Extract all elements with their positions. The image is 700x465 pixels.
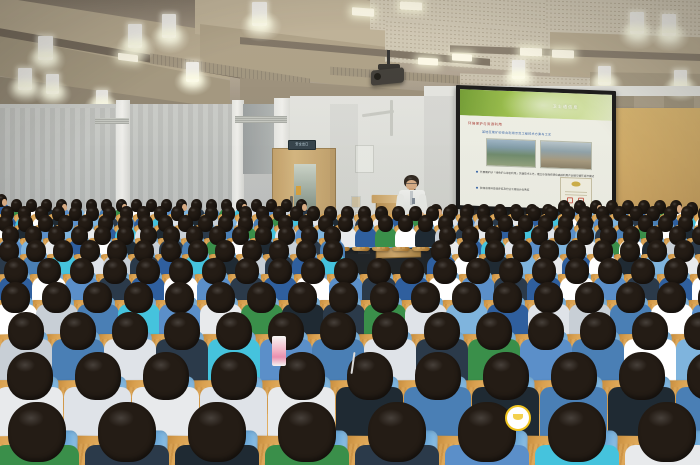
hair-highlight (28, 201, 33, 205)
person-head (320, 312, 356, 350)
person-head (98, 402, 156, 462)
pink-water-bottle (272, 336, 286, 366)
hair-highlight (301, 217, 308, 222)
person-head (188, 240, 208, 262)
hair-highlight (133, 201, 138, 205)
hair-highlight (534, 228, 541, 234)
hair-highlight (165, 243, 174, 250)
wall-vent (95, 118, 129, 124)
person-head (532, 258, 556, 284)
hair-highlight (465, 228, 472, 234)
person-head (493, 282, 522, 313)
hair-highlight (651, 243, 660, 250)
person-head (565, 258, 589, 284)
hair-highlight (305, 261, 316, 269)
hair-highlight (482, 317, 498, 328)
hair-highlight (560, 202, 565, 206)
slide-photo-processing-plant (540, 140, 592, 170)
person-head (235, 258, 259, 284)
hair-highlight (624, 243, 633, 250)
projection-screen-frame: 卫士通信息 环境保护与资源利用 某地区尾矿砂综合利用示范工程技术方案与工艺 开展… (456, 85, 616, 215)
hair-highlight (219, 243, 228, 250)
hair-highlight (193, 201, 198, 205)
person-head (4, 258, 28, 284)
exit-sign-label: 安全出口 (289, 141, 315, 147)
hair-highlight (304, 228, 311, 234)
hair-highlight (649, 208, 655, 213)
hair-highlight (41, 261, 52, 269)
seal-crest-icon (572, 182, 581, 187)
person-head (619, 352, 665, 400)
hair-highlight (539, 286, 552, 295)
hair-highlight (341, 217, 348, 222)
hair-highlight (547, 208, 553, 213)
hair-highlight (223, 201, 228, 205)
hair-highlight (107, 261, 118, 269)
hair-highlight (207, 208, 213, 213)
hair-highlight (462, 208, 468, 213)
light-glow (240, 10, 282, 42)
hair-highlight (627, 358, 647, 372)
person-head (657, 282, 686, 313)
hair-highlight (143, 228, 150, 234)
slide-banner-text: 卫士通信息 (553, 104, 579, 111)
person-head (329, 282, 358, 313)
person-head (466, 258, 490, 284)
hair-highlight (181, 217, 188, 222)
hair-highlight (681, 217, 688, 222)
seal-line (565, 191, 588, 193)
person-head (136, 258, 160, 284)
wall-conduit (390, 100, 393, 136)
hair-highlight (268, 201, 273, 205)
hair-highlight (141, 217, 148, 222)
hair-highlight (598, 208, 604, 213)
person-head (367, 258, 391, 284)
hair-highlight (621, 217, 628, 222)
hair-highlight (272, 261, 283, 269)
hair-highlight (20, 208, 26, 213)
ceiling-recessed-light (352, 7, 374, 17)
hair-highlight (597, 243, 606, 250)
hair-highlight (129, 286, 142, 295)
person-head (575, 282, 604, 313)
person-head (60, 312, 96, 350)
hair-highlight (536, 261, 547, 269)
person-head (211, 352, 257, 400)
hair-highlight (511, 228, 518, 234)
hair-highlight (377, 208, 383, 213)
hair-highlight (378, 409, 404, 427)
hair-highlight (435, 243, 444, 250)
hair-highlight (378, 317, 394, 328)
window-curtain (243, 104, 275, 174)
person-head (37, 258, 61, 284)
hair-highlight (695, 358, 700, 372)
hair-highlight (641, 217, 648, 222)
hair-highlight (273, 243, 282, 250)
hair-highlight (101, 217, 108, 222)
hair-highlight (695, 228, 700, 234)
hair-highlight (288, 409, 314, 427)
hair-highlight (561, 217, 568, 222)
person-head (1, 282, 30, 313)
hair-highlight (503, 261, 514, 269)
hair-highlight (83, 358, 103, 372)
hair-highlight (648, 409, 674, 427)
hair-highlight (375, 286, 388, 295)
person-head (42, 282, 71, 313)
hair-highlight (51, 228, 58, 234)
hair-highlight (161, 217, 168, 222)
hair-highlight (140, 261, 151, 269)
hair-highlight (66, 317, 82, 328)
hair-highlight (430, 317, 446, 328)
hair-highlight (261, 217, 268, 222)
hair-highlight (212, 228, 219, 234)
light-glow (150, 22, 190, 54)
person-head (164, 312, 200, 350)
hair-highlight (371, 261, 382, 269)
hair-highlight (521, 217, 528, 222)
hair-highlight (662, 286, 675, 295)
hair-highlight (222, 317, 238, 328)
hair-highlight (491, 358, 511, 372)
hair-highlight (235, 228, 242, 234)
hair-highlight (258, 228, 265, 234)
hair-highlight (381, 217, 388, 222)
person-head (334, 258, 358, 284)
light-glow (174, 68, 212, 96)
hair-highlight (421, 217, 428, 222)
hair-highlight (15, 358, 35, 372)
seal-line (565, 194, 588, 196)
person-head (647, 240, 667, 262)
hair-highlight (321, 217, 328, 222)
hair-highlight (37, 208, 43, 213)
hair-highlight (394, 208, 400, 213)
slide-subtitle: 某地区尾矿砂综合利用示范工程技术方案与工艺 (482, 130, 551, 137)
hair-highlight (21, 217, 28, 222)
hair-highlight (558, 409, 584, 427)
ceiling-recessed-light (418, 57, 438, 65)
person-head (247, 282, 276, 313)
hair-highlight (640, 202, 645, 206)
hair-highlight (30, 243, 39, 250)
person-head (415, 352, 461, 400)
hair-highlight (5, 228, 12, 234)
hair-highlight (208, 201, 213, 205)
person-head (70, 258, 94, 284)
hair-highlight (656, 202, 661, 206)
hair-highlight (88, 286, 101, 295)
hair-highlight (105, 208, 111, 213)
person-head (278, 402, 336, 462)
hair-highlight (624, 202, 629, 206)
ceiling-recessed-light (520, 48, 542, 57)
person-head (202, 258, 226, 284)
hair-highlight (170, 286, 183, 295)
person-head (338, 215, 353, 232)
person-head (632, 312, 668, 350)
hair-highlight (201, 217, 208, 222)
hair-highlight (173, 208, 179, 213)
person-head (483, 352, 529, 400)
light-glow (650, 22, 690, 52)
hair-highlight (530, 208, 536, 213)
hair-highlight (198, 409, 224, 427)
hair-highlight (97, 228, 104, 234)
hair-highlight (3, 208, 9, 213)
hair-highlight (14, 317, 30, 328)
hair-highlight (221, 217, 228, 222)
hair-highlight (441, 217, 448, 222)
person-head (112, 312, 148, 350)
person-head (692, 226, 700, 245)
person-head (165, 282, 194, 313)
hair-highlight (461, 217, 468, 222)
hair-highlight (281, 217, 288, 222)
hair-highlight (170, 317, 186, 328)
person-head (664, 258, 688, 284)
hair-highlight (84, 243, 93, 250)
hair-highlight (621, 286, 634, 295)
hair-highlight (445, 208, 451, 213)
hair-highlight (423, 358, 443, 372)
slide-photo-mine-site (486, 138, 536, 168)
hair-highlight (516, 243, 525, 250)
hair-highlight (602, 261, 613, 269)
hair-highlight (71, 208, 77, 213)
hair-highlight (206, 261, 217, 269)
hair-highlight (120, 228, 127, 234)
person-head (358, 215, 373, 232)
hair-highlight (601, 217, 608, 222)
ceiling-recessed-light (400, 1, 422, 10)
hair-highlight (274, 317, 290, 328)
hair-highlight (496, 208, 502, 213)
hair-highlight (88, 201, 93, 205)
person-head (143, 352, 189, 400)
hair-highlight (211, 286, 224, 295)
slide-title: 环境保护与资源利用 (468, 120, 502, 126)
hair-highlight (287, 358, 307, 372)
hair-highlight (122, 208, 128, 213)
hair-highlight (18, 409, 44, 427)
hair-highlight (241, 208, 247, 213)
person-head (53, 240, 73, 262)
hair-highlight (570, 243, 579, 250)
hair-highlight (54, 208, 60, 213)
hair-highlight (468, 409, 494, 427)
hair-highlight (666, 208, 672, 213)
hair-highlight (479, 208, 485, 213)
ceiling-recessed-light (452, 53, 472, 61)
person-head (8, 312, 44, 350)
person-head (398, 215, 413, 232)
hair-highlight (416, 286, 429, 295)
hair-highlight (156, 208, 162, 213)
hair-highlight (626, 228, 633, 234)
person-head (411, 282, 440, 313)
hair-highlight (632, 208, 638, 213)
hair-highlight (121, 217, 128, 222)
hair-highlight (74, 228, 81, 234)
person-head (288, 282, 317, 313)
person-head (598, 258, 622, 284)
hair-highlight (501, 217, 508, 222)
hair-highlight (241, 217, 248, 222)
hair-highlight (559, 358, 579, 372)
slide-body: 环境保护与资源利用 某地区尾矿砂综合利用示范工程技术方案与工艺 开展尾矿砂「绿色… (460, 115, 612, 211)
hair-highlight (498, 286, 511, 295)
hair-highlight (489, 243, 498, 250)
person-head (551, 352, 597, 400)
hair-highlight (41, 217, 48, 222)
person-head (580, 312, 616, 350)
person-head (169, 258, 193, 284)
hair-highlight (638, 317, 654, 328)
hair-highlight (327, 228, 334, 234)
hair-highlight (608, 202, 613, 206)
person-head (485, 240, 505, 262)
person-head (216, 312, 252, 350)
hair-highlight (151, 358, 171, 372)
hair-highlight (8, 261, 19, 269)
hair-highlight (581, 217, 588, 222)
slide-bullet: 获得省级科技进步奖及行业工程设计优秀奖 (480, 186, 529, 192)
hair-highlight (239, 261, 250, 269)
hair-highlight (541, 217, 548, 222)
hair-highlight (61, 217, 68, 222)
hair-highlight (111, 243, 120, 250)
hair-highlight (219, 358, 239, 372)
hair-highlight (580, 286, 593, 295)
hair-highlight (683, 208, 689, 213)
wall-vent (235, 116, 287, 123)
hair-highlight (6, 286, 19, 295)
hair-highlight (252, 286, 265, 295)
hair-highlight (428, 208, 434, 213)
hair-highlight (401, 217, 408, 222)
hair-highlight (148, 201, 153, 205)
hair-highlight (360, 208, 366, 213)
hair-highlight (649, 228, 656, 234)
hair-highlight (603, 228, 610, 234)
hair-highlight (81, 217, 88, 222)
person-head (206, 282, 235, 313)
person-head (124, 282, 153, 313)
hair-highlight (292, 208, 298, 213)
hair-highlight (404, 261, 415, 269)
hair-highlight (28, 228, 35, 234)
hair-highlight (327, 243, 336, 250)
hair-highlight (166, 228, 173, 234)
person-head (400, 258, 424, 284)
hair-highlight (275, 208, 281, 213)
person-head (534, 282, 563, 313)
hair-highlight (190, 208, 196, 213)
hair-highlight (543, 243, 552, 250)
hair-highlight (118, 317, 134, 328)
person-head (638, 402, 696, 462)
hair-highlight (300, 243, 309, 250)
hair-highlight (189, 228, 196, 234)
person-head (268, 258, 292, 284)
person-head (370, 282, 399, 313)
hair-highlight (338, 261, 349, 269)
hair-highlight (3, 243, 12, 250)
hair-highlight (442, 228, 449, 234)
person-head (528, 312, 564, 350)
hair-highlight (411, 208, 417, 213)
hair-highlight (635, 261, 646, 269)
hair-highlight (334, 286, 347, 295)
hair-highlight (355, 358, 375, 372)
projector-lens (374, 73, 381, 80)
hair-highlight (283, 201, 288, 205)
person-head (631, 258, 655, 284)
hair-highlight (281, 228, 288, 234)
hair-highlight (258, 208, 264, 213)
hair-highlight (74, 261, 85, 269)
hair-highlight (513, 208, 519, 213)
hair-highlight (586, 317, 602, 328)
person-head (75, 352, 121, 400)
hair-highlight (576, 202, 581, 206)
hair-highlight (470, 261, 481, 269)
hair-highlight (672, 228, 679, 234)
hair-highlight (43, 201, 48, 205)
hair-highlight (661, 217, 668, 222)
person-head (418, 215, 433, 232)
lecture-hall-photo: 安全出口 卫士通信息 环境保护与资源利用 某地区尾矿砂综合利用示范工程技术方案与… (0, 0, 700, 465)
hair-highlight (361, 217, 368, 222)
hair-highlight (668, 261, 679, 269)
hair-highlight (462, 243, 471, 250)
person-head (103, 258, 127, 284)
speaker-glasses (406, 183, 417, 184)
hair-highlight (163, 201, 168, 205)
hair-highlight (457, 286, 470, 295)
hair-highlight (437, 261, 448, 269)
person-head (548, 402, 606, 462)
hair-highlight (1, 217, 8, 222)
person-head (452, 282, 481, 313)
person-head (83, 282, 112, 313)
hair-highlight (13, 201, 18, 205)
person-head (616, 282, 645, 313)
hair-highlight (192, 243, 201, 250)
person-head (372, 312, 408, 350)
hair-highlight (57, 243, 66, 250)
exit-sign: 安全出口 (288, 140, 316, 150)
hair-highlight (138, 243, 147, 250)
person-head (188, 402, 246, 462)
projection-screen: 卫士通信息 环境保护与资源利用 某地区尾矿砂综合利用示范工程技术方案与工艺 开展… (460, 89, 612, 211)
hair-highlight (309, 208, 315, 213)
hair-highlight (173, 261, 184, 269)
hair-highlight (678, 243, 687, 250)
hair-highlight (488, 228, 495, 234)
hair-highlight (293, 286, 306, 295)
door-strip (296, 186, 301, 195)
hair-highlight (224, 208, 230, 213)
hair-highlight (47, 286, 60, 295)
hair-highlight (326, 208, 332, 213)
person-head (7, 352, 53, 400)
person-head (476, 312, 512, 350)
